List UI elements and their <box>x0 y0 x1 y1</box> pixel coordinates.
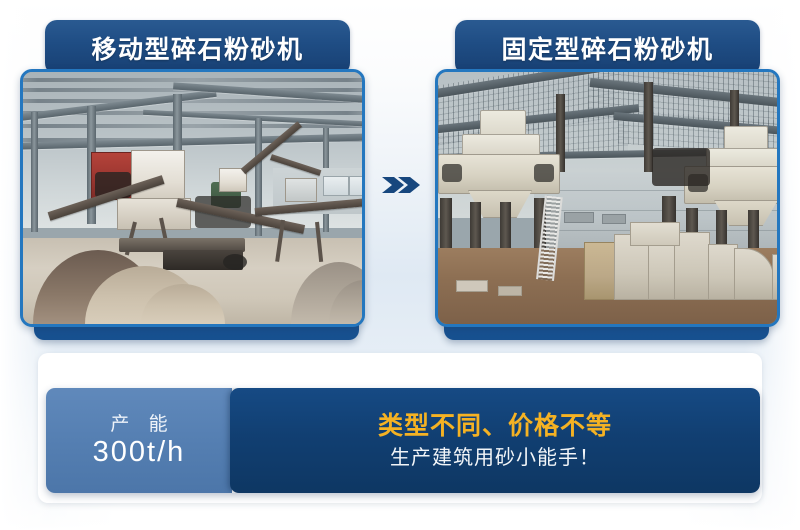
title-banner-left-label: 移动型碎石粉砂机 <box>91 30 303 66</box>
capacity-label: 产 能 <box>103 415 174 434</box>
message-headline: 类型不同、价格不等 <box>378 414 612 439</box>
message-panel: 类型不同、价格不等 生产建筑用砂小能手！ <box>230 388 760 493</box>
promo-banner-stage: 移动型碎石粉砂机 固定型碎石粉砂机 <box>0 0 800 530</box>
message-subline: 生产建筑用砂小能手！ <box>390 448 600 468</box>
title-banner-right-label: 固定型碎石粉砂机 <box>501 30 713 66</box>
photo-card-mobile-crusher <box>20 69 365 327</box>
title-banner-left: 移动型碎石粉砂机 <box>45 20 350 75</box>
capacity-panel: 产 能 300t/h <box>46 388 232 493</box>
photo-fixed-sand-maker-image <box>438 72 777 324</box>
info-bar: 产 能 300t/h 类型不同、价格不等 生产建筑用砂小能手！ <box>46 388 760 493</box>
title-banner-right: 固定型碎石粉砂机 <box>455 20 760 75</box>
double-chevron-right-icon <box>382 172 420 198</box>
photo-mobile-crusher-image <box>23 72 362 324</box>
photo-card-fixed-sand-maker <box>435 69 780 327</box>
capacity-value: 300t/h <box>93 438 186 467</box>
